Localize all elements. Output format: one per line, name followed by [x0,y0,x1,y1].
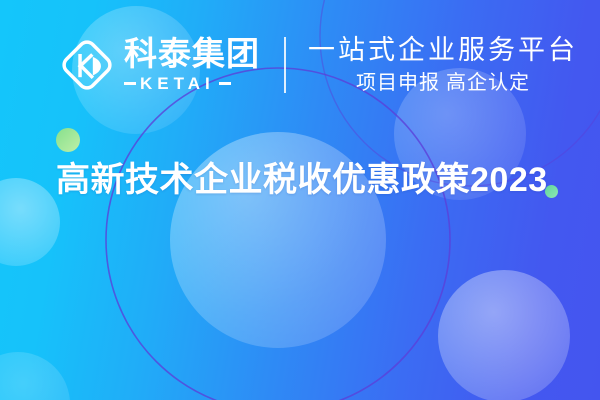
brand-name-latin: KETAI [140,74,215,94]
rule-left-icon [124,82,136,85]
promo-banner: 科泰集团 KETAI 一站式企业服务平台 项目申报 高企认定 高新技术企业税收优… [0,0,600,400]
tagline-primary: 一站式企业服务平台 [308,34,578,66]
soft-white-circles [438,270,570,400]
banner-headline: 高新技术企业税收优惠政策2023 [56,152,548,201]
banner-header: 科泰集团 KETAI 一站式企业服务平台 项目申报 高企认定 [58,34,578,96]
rule-right-icon [219,82,231,85]
tagline-secondary: 项目申报 高企认定 [356,70,530,96]
soft-white-circles [0,178,60,266]
soft-white-circles [0,352,70,400]
vertical-divider [284,37,286,93]
brand-name-cn: 科泰集团 [124,37,260,72]
green-accent-dot [56,128,80,152]
tagline-block: 一站式企业服务平台 项目申报 高企认定 [308,34,578,96]
brand-latin-row: KETAI [124,74,260,94]
brand-wordmark: 科泰集团 KETAI [124,37,260,94]
brand-logo: 科泰集团 KETAI [58,36,260,94]
ketai-diamond-kd-logo-icon [58,36,116,94]
